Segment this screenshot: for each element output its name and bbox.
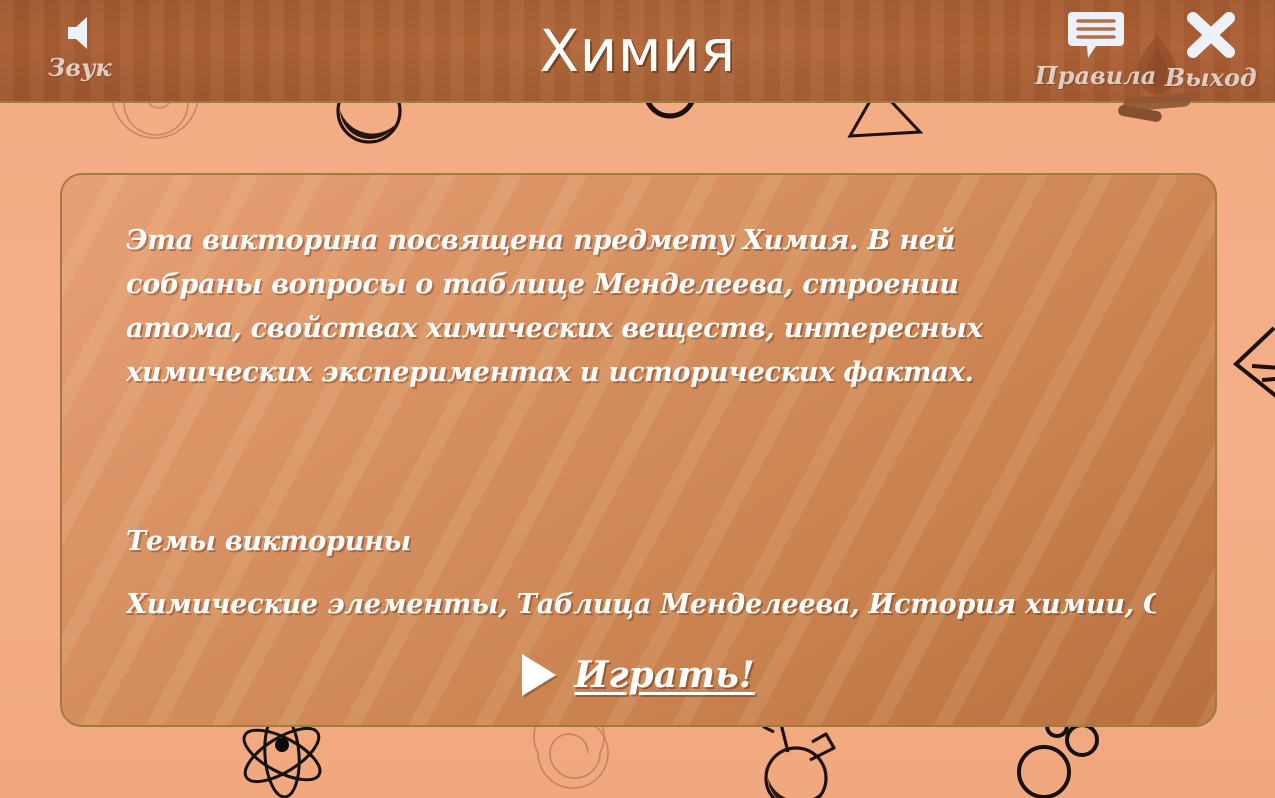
play-button[interactable]: Играть! <box>62 653 1215 697</box>
play-button-label[interactable]: Играть! <box>574 653 754 697</box>
flask-icon <box>1232 318 1275 438</box>
sound-button[interactable]: Звук <box>48 12 112 82</box>
play-triangle-icon[interactable] <box>522 654 556 696</box>
round-bottom-flask-icon <box>742 720 847 798</box>
topics-list: Химические элементы, Таблица Менделеева,… <box>126 586 1156 624</box>
exit-button[interactable]: Выход <box>1165 6 1257 92</box>
quiz-intro-screen: Химия Звук Правила Выход <box>0 0 1275 798</box>
speaker-muted-icon[interactable] <box>59 12 101 54</box>
bubbles-icon <box>1010 718 1110 798</box>
quiz-description: Эта викторина посвящена предмету Химия. … <box>126 219 1078 395</box>
rules-button-label: Правила <box>1035 62 1156 90</box>
close-x-icon[interactable] <box>1180 6 1242 64</box>
rules-button[interactable]: Правила <box>1035 8 1156 90</box>
sound-button-label: Звук <box>48 54 112 82</box>
quiz-info-card-body: Эта викторина посвящена предмету Химия. … <box>62 175 1215 725</box>
speech-bubble-icon[interactable] <box>1066 8 1126 62</box>
quiz-info-card: Эта викторина посвящена предмету Химия. … <box>60 173 1217 727</box>
topics-heading: Темы викторины <box>126 525 411 559</box>
exit-button-label: Выход <box>1165 64 1257 92</box>
